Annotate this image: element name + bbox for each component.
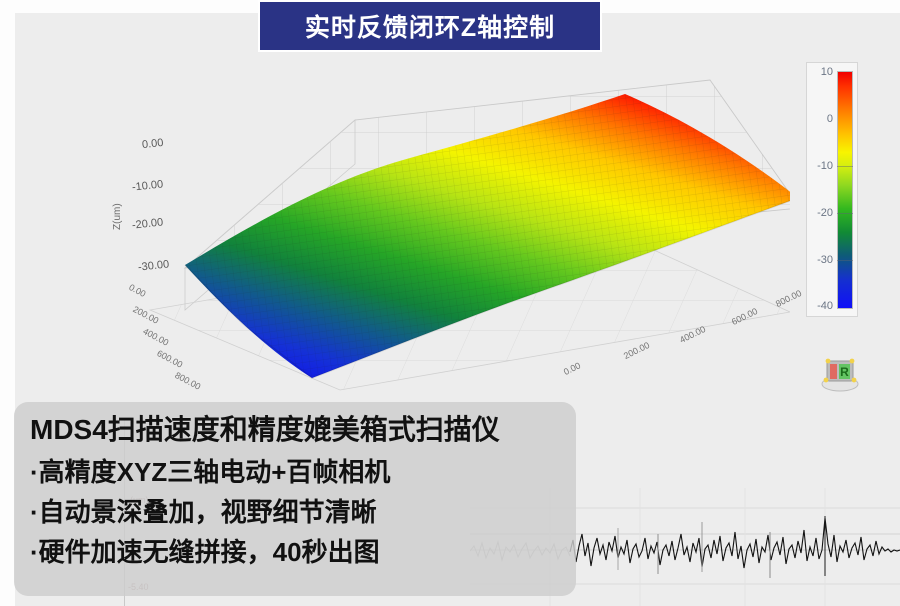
surface-plot-3d[interactable]: 0.00 -10.00 -20.00 -30.00 Z(um) 0.00 200…	[90, 60, 790, 410]
feature-callout-card: MDS4扫描速度和精度媲美箱式扫描仪 ·高精度XYZ三轴电动+百帧相机 ·自动景…	[14, 402, 576, 596]
colorbar-tick--40: -40	[817, 300, 833, 312]
rotate-view-icon: R	[818, 352, 862, 394]
surface-plot-svg	[90, 60, 790, 410]
colorbar-gridline-2	[837, 213, 853, 214]
colorbar-tick--20: -20	[817, 207, 833, 219]
colorbar[interactable]: 10 0 -10 -20 -30 -40	[806, 62, 858, 317]
colorbar-tick--30: -30	[817, 254, 833, 266]
callout-bullet-1: ·高精度XYZ三轴电动+百帧相机	[30, 452, 562, 492]
signal-trace-line	[570, 518, 900, 568]
rotate-view-widget[interactable]: R	[818, 352, 862, 394]
z-tick-0: 0.00	[141, 137, 164, 151]
colorbar-gridline-3	[837, 260, 853, 261]
panel-left-gutter	[0, 0, 15, 606]
z-axis-title: Z(um)	[112, 203, 123, 230]
screenshot-root: 0.00 -10.00 -20.00 -30.00 Z(um) 0.00 200…	[0, 0, 900, 606]
title-banner: 实时反馈闭环Z轴控制	[258, 0, 602, 52]
title-banner-text: 实时反馈闭环Z轴控制	[305, 8, 555, 44]
colorbar-tick-10: 10	[821, 66, 833, 78]
colorbar-tick-0: 0	[827, 113, 833, 125]
rotate-widget-label: R	[840, 365, 849, 379]
colorbar-tick--10: -10	[817, 160, 833, 172]
colorbar-gridline-1	[837, 166, 853, 167]
callout-bullet-2: ·自动景深叠加，视野细节清晰	[30, 492, 562, 532]
colorbar-gradient	[837, 71, 853, 309]
callout-heading: MDS4扫描速度和精度媲美箱式扫描仪	[30, 408, 562, 452]
callout-bullet-3: ·硬件加速无缝拼接，40秒出图	[30, 532, 562, 572]
